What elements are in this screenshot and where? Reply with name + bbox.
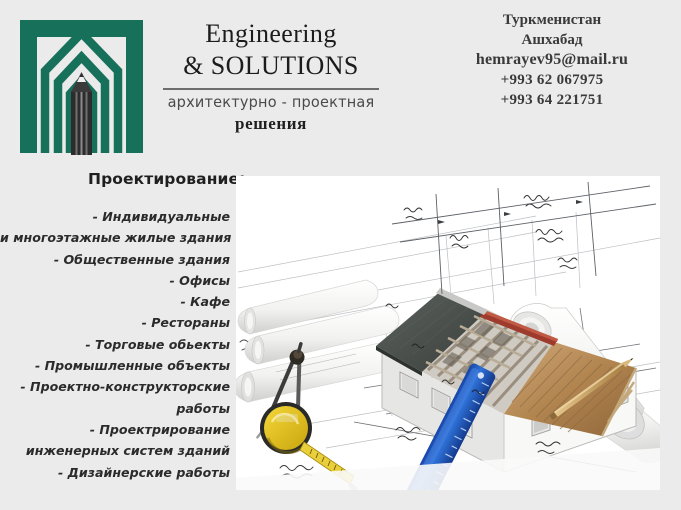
list-item: - Общественные здания xyxy=(0,249,230,270)
contact-email[interactable]: hemrayev95@mail.ru xyxy=(437,50,667,70)
brand-wordmark: Engineering & SOLUTIONS архитектурно - п… xyxy=(160,18,382,134)
list-item: и многоэтажные жилые здания xyxy=(0,227,230,248)
company-logo-icon xyxy=(14,14,149,159)
list-item: работы xyxy=(0,398,230,419)
brand-tagline-1: архитектурно - проектная xyxy=(160,95,382,112)
services-list: - Индивидуальные и многоэтажные жилые зд… xyxy=(0,206,236,483)
brand-line-1: Engineering xyxy=(160,18,382,50)
contact-country: Туркменистан xyxy=(437,10,667,30)
contact-block: Туркменистан Ашхабад hemrayev95@mail.ru … xyxy=(437,10,667,110)
list-item: - Дизайнерские работы xyxy=(0,462,230,483)
list-item: - Рестораны xyxy=(0,312,230,333)
contact-phone-1[interactable]: +993 62 067975 xyxy=(437,70,667,90)
brand-line-2: & SOLUTIONS xyxy=(160,50,382,82)
list-item: инженерных систем зданий xyxy=(0,440,230,461)
brand-tagline-2: решения xyxy=(160,114,382,134)
poster-canvas: Engineering & SOLUTIONS архитектурно - п… xyxy=(0,0,681,510)
list-item: - Кафе xyxy=(0,291,230,312)
brand-divider xyxy=(163,88,379,90)
contact-phone-2[interactable]: +993 64 221751 xyxy=(437,90,667,110)
services-heading: Проектирование: xyxy=(88,170,245,188)
list-item: - Проектрирование xyxy=(0,419,230,440)
list-item: - Офисы xyxy=(0,270,230,291)
contact-city: Ашхабад xyxy=(437,30,667,50)
list-item: - Промышленные объекты xyxy=(0,355,230,376)
architecture-photo xyxy=(236,176,660,490)
list-item: - Торговые обьекты xyxy=(0,334,230,355)
list-item: - Индивидуальные xyxy=(0,206,230,227)
list-item: - Проектно-конструкторские xyxy=(0,376,230,397)
